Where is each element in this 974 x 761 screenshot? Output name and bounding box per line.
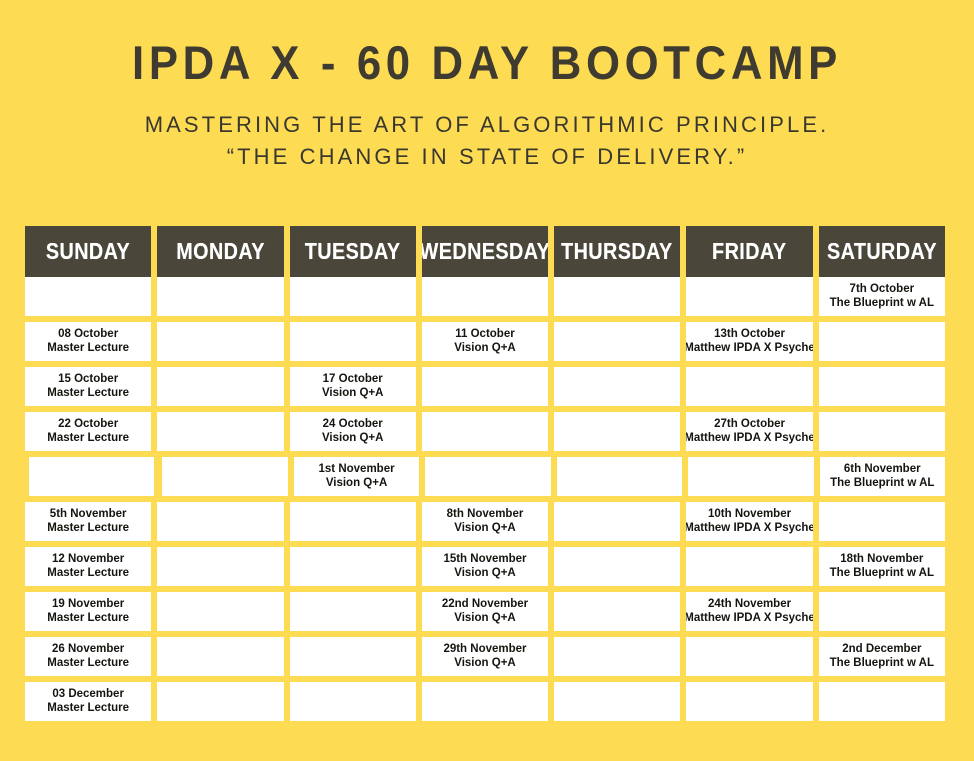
calendar-event-cell[interactable]: 26 NovemberMaster Lecture bbox=[25, 637, 151, 676]
calendar-event-cell[interactable]: 22 OctoberMaster Lecture bbox=[25, 412, 151, 451]
calendar-empty-cell[interactable] bbox=[25, 277, 151, 316]
calendar-empty-cell[interactable] bbox=[422, 277, 548, 316]
calendar-empty-cell[interactable] bbox=[686, 547, 812, 586]
event-title: Master Lecture bbox=[47, 612, 129, 626]
calendar-event-cell[interactable]: 7th OctoberThe Blueprint w AL bbox=[819, 277, 945, 316]
calendar-empty-cell[interactable] bbox=[157, 547, 283, 586]
event-title: The Blueprint w AL bbox=[830, 657, 934, 671]
event-title: The Blueprint w AL bbox=[830, 567, 934, 581]
calendar-body: 7th OctoberThe Blueprint w AL08 OctoberM… bbox=[25, 277, 945, 721]
calendar-week-row: 08 OctoberMaster Lecture11 OctoberVision… bbox=[25, 322, 945, 361]
day-header-label: SATURDAY bbox=[827, 238, 937, 265]
event-date: 1st November bbox=[319, 463, 395, 477]
event-title: Vision Q+A bbox=[454, 612, 515, 626]
event-title: Master Lecture bbox=[47, 387, 129, 401]
event-date: 8th November bbox=[447, 508, 524, 522]
title-block: IPDA X - 60 DAY BOOTCAMP MASTERING THE A… bbox=[0, 0, 974, 173]
event-date: 5th November bbox=[50, 508, 127, 522]
day-header-label: FRIDAY bbox=[712, 238, 786, 265]
calendar-event-cell[interactable]: 15 OctoberMaster Lecture bbox=[25, 367, 151, 406]
calendar-week-row: 26 NovemberMaster Lecture29th NovemberVi… bbox=[25, 637, 945, 676]
subtitle-line-1: MASTERING THE ART OF ALGORITHMIC PRINCIP… bbox=[0, 109, 974, 141]
event-date: 15 October bbox=[58, 373, 118, 387]
calendar-empty-cell[interactable] bbox=[554, 322, 680, 361]
event-title: Matthew IPDA X Psyche bbox=[686, 522, 812, 536]
event-title: Master Lecture bbox=[47, 432, 129, 446]
calendar-event-cell[interactable]: 8th NovemberVision Q+A bbox=[422, 502, 548, 541]
event-date: 03 December bbox=[52, 688, 124, 702]
event-title: Matthew IPDA X Psyche bbox=[686, 432, 812, 446]
calendar-empty-cell[interactable] bbox=[157, 592, 283, 631]
subtitle-block: MASTERING THE ART OF ALGORITHMIC PRINCIP… bbox=[0, 109, 974, 173]
event-title: Master Lecture bbox=[47, 342, 129, 356]
day-header-label: THURSDAY bbox=[562, 238, 674, 265]
calendar-week-row: 03 DecemberMaster Lecture bbox=[25, 682, 945, 721]
event-date: 17 October bbox=[323, 373, 383, 387]
calendar-empty-cell[interactable] bbox=[554, 592, 680, 631]
day-header-friday: FRIDAY bbox=[686, 226, 812, 277]
event-title: Vision Q+A bbox=[326, 477, 387, 491]
day-header-label: SUNDAY bbox=[46, 238, 130, 265]
event-date: 19 November bbox=[52, 598, 124, 612]
event-title: The Blueprint w AL bbox=[830, 477, 934, 491]
day-header-label: WEDNESDAY bbox=[422, 238, 548, 265]
event-date: 6th November bbox=[844, 463, 921, 477]
calendar-empty-cell[interactable] bbox=[554, 412, 680, 451]
event-date: 12 November bbox=[52, 553, 124, 567]
calendar-event-cell[interactable]: 13th OctoberMatthew IPDA X Psyche bbox=[686, 322, 812, 361]
event-title: Vision Q+A bbox=[454, 567, 515, 581]
calendar-empty-cell[interactable] bbox=[157, 277, 283, 316]
calendar-event-cell[interactable]: 17 OctoberVision Q+A bbox=[290, 367, 416, 406]
event-date: 24 October bbox=[323, 418, 383, 432]
event-date: 11 October bbox=[455, 328, 514, 342]
calendar-empty-cell[interactable] bbox=[819, 682, 945, 721]
page-title: IPDA X - 60 DAY BOOTCAMP bbox=[34, 38, 940, 87]
calendar-week-row: 12 NovemberMaster Lecture15th NovemberVi… bbox=[25, 547, 945, 586]
event-title: Master Lecture bbox=[47, 522, 129, 536]
calendar-empty-cell[interactable] bbox=[686, 637, 812, 676]
calendar-empty-cell[interactable] bbox=[29, 457, 154, 496]
calendar-empty-cell[interactable] bbox=[290, 547, 416, 586]
calendar-empty-cell[interactable] bbox=[157, 322, 283, 361]
event-title: The Blueprint w AL bbox=[830, 297, 934, 311]
calendar-week-row: 5th NovemberMaster Lecture8th NovemberVi… bbox=[25, 502, 945, 541]
calendar-empty-cell[interactable] bbox=[157, 502, 283, 541]
calendar-empty-cell[interactable] bbox=[686, 367, 812, 406]
event-date: 2nd December bbox=[842, 643, 921, 657]
calendar-empty-cell[interactable] bbox=[422, 412, 548, 451]
day-header-label: MONDAY bbox=[176, 238, 265, 265]
calendar-header-row: SUNDAYMONDAYTUESDAYWEDNESDAYTHURSDAYFRID… bbox=[25, 226, 945, 277]
calendar-empty-cell[interactable] bbox=[819, 322, 945, 361]
calendar-empty-cell[interactable] bbox=[554, 502, 680, 541]
calendar-week-row: 1st NovemberVision Q+A6th NovemberThe Bl… bbox=[25, 457, 945, 496]
event-title: Matthew IPDA X Psyche bbox=[686, 612, 812, 626]
day-header-wednesday: WEDNESDAY bbox=[422, 226, 548, 277]
calendar-event-cell[interactable]: 03 DecemberMaster Lecture bbox=[25, 682, 151, 721]
event-date: 08 October bbox=[58, 328, 118, 342]
calendar-empty-cell[interactable] bbox=[422, 682, 548, 721]
calendar-event-cell[interactable]: 11 OctoberVision Q+A bbox=[422, 322, 548, 361]
calendar-event-cell[interactable]: 22nd NovemberVision Q+A bbox=[422, 592, 548, 631]
event-title: Master Lecture bbox=[47, 657, 129, 671]
calendar-empty-cell[interactable] bbox=[819, 502, 945, 541]
event-date: 24th November bbox=[708, 598, 791, 612]
event-title: Vision Q+A bbox=[322, 387, 383, 401]
day-header-label: TUESDAY bbox=[305, 238, 401, 265]
event-title: Master Lecture bbox=[47, 702, 129, 716]
calendar-empty-cell[interactable] bbox=[819, 592, 945, 631]
calendar-empty-cell[interactable] bbox=[290, 682, 416, 721]
event-title: Master Lecture bbox=[47, 567, 129, 581]
event-date: 22 October bbox=[58, 418, 118, 432]
calendar-week-row: 7th OctoberThe Blueprint w AL bbox=[25, 277, 945, 316]
calendar-empty-cell[interactable] bbox=[819, 367, 945, 406]
event-date: 10th November bbox=[708, 508, 791, 522]
calendar-empty-cell[interactable] bbox=[290, 502, 416, 541]
event-date: 22nd November bbox=[442, 598, 528, 612]
calendar-empty-cell[interactable] bbox=[554, 637, 680, 676]
calendar-empty-cell[interactable] bbox=[290, 637, 416, 676]
event-title: Vision Q+A bbox=[454, 657, 515, 671]
calendar-empty-cell[interactable] bbox=[290, 322, 416, 361]
calendar-event-cell[interactable]: 19 NovemberMaster Lecture bbox=[25, 592, 151, 631]
calendar-empty-cell[interactable] bbox=[422, 367, 548, 406]
event-date: 27th October bbox=[714, 418, 785, 432]
day-header-tuesday: TUESDAY bbox=[290, 226, 416, 277]
day-header-saturday: SATURDAY bbox=[819, 226, 945, 277]
calendar-empty-cell[interactable] bbox=[819, 412, 945, 451]
calendar-empty-cell[interactable] bbox=[425, 457, 550, 496]
event-title: Vision Q+A bbox=[454, 342, 515, 356]
day-header-sunday: SUNDAY bbox=[25, 226, 151, 277]
calendar-grid: SUNDAYMONDAYTUESDAYWEDNESDAYTHURSDAYFRID… bbox=[25, 226, 945, 721]
calendar-event-cell[interactable]: 12 NovemberMaster Lecture bbox=[25, 547, 151, 586]
calendar-empty-cell[interactable] bbox=[554, 682, 680, 721]
calendar-event-cell[interactable]: 29th NovemberVision Q+A bbox=[422, 637, 548, 676]
day-header-monday: MONDAY bbox=[157, 226, 283, 277]
calendar-week-row: 15 OctoberMaster Lecture17 OctoberVision… bbox=[25, 367, 945, 406]
day-header-thursday: THURSDAY bbox=[554, 226, 680, 277]
calendar-empty-cell[interactable] bbox=[157, 637, 283, 676]
calendar-empty-cell[interactable] bbox=[686, 277, 812, 316]
calendar-empty-cell[interactable] bbox=[157, 367, 283, 406]
calendar-event-cell[interactable]: 18th NovemberThe Blueprint w AL bbox=[819, 547, 945, 586]
event-date: 29th November bbox=[443, 643, 526, 657]
calendar-event-cell[interactable]: 27th OctoberMatthew IPDA X Psyche bbox=[686, 412, 812, 451]
calendar-empty-cell[interactable] bbox=[157, 412, 283, 451]
event-date: 26 November bbox=[52, 643, 124, 657]
calendar-event-cell[interactable]: 10th NovemberMatthew IPDA X Psyche bbox=[686, 502, 812, 541]
calendar-event-cell[interactable]: 6th NovemberThe Blueprint w AL bbox=[820, 457, 945, 496]
calendar-week-row: 19 NovemberMaster Lecture22nd NovemberVi… bbox=[25, 592, 945, 631]
calendar-empty-cell[interactable] bbox=[157, 682, 283, 721]
calendar-empty-cell[interactable] bbox=[688, 457, 813, 496]
calendar-event-cell[interactable]: 24th NovemberMatthew IPDA X Psyche bbox=[686, 592, 812, 631]
event-date: 18th November bbox=[840, 553, 923, 567]
calendar-empty-cell[interactable] bbox=[557, 457, 682, 496]
calendar-empty-cell[interactable] bbox=[554, 367, 680, 406]
calendar-empty-cell[interactable] bbox=[686, 682, 812, 721]
calendar-empty-cell[interactable] bbox=[554, 277, 680, 316]
calendar-event-cell[interactable]: 24 OctoberVision Q+A bbox=[290, 412, 416, 451]
event-title: Vision Q+A bbox=[322, 432, 383, 446]
calendar-event-cell[interactable]: 2nd DecemberThe Blueprint w AL bbox=[819, 637, 945, 676]
calendar-event-cell[interactable]: 5th NovemberMaster Lecture bbox=[25, 502, 151, 541]
subtitle-line-2: “THE CHANGE IN STATE OF DELIVERY.” bbox=[0, 141, 974, 173]
calendar-event-cell[interactable]: 1st NovemberVision Q+A bbox=[294, 457, 419, 496]
event-date: 7th October bbox=[850, 283, 915, 297]
calendar-week-row: 22 OctoberMaster Lecture24 OctoberVision… bbox=[25, 412, 945, 451]
event-title: Matthew IPDA X Psyche bbox=[686, 342, 812, 356]
event-date: 15th November bbox=[443, 553, 526, 567]
calendar-empty-cell[interactable] bbox=[162, 457, 287, 496]
calendar-event-cell[interactable]: 15th NovemberVision Q+A bbox=[422, 547, 548, 586]
event-date: 13th October bbox=[714, 328, 785, 342]
event-title: Vision Q+A bbox=[454, 522, 515, 536]
bootcamp-schedule-page: IPDA X - 60 DAY BOOTCAMP MASTERING THE A… bbox=[0, 0, 974, 761]
calendar-event-cell[interactable]: 08 OctoberMaster Lecture bbox=[25, 322, 151, 361]
calendar-empty-cell[interactable] bbox=[554, 547, 680, 586]
calendar-empty-cell[interactable] bbox=[290, 592, 416, 631]
calendar-empty-cell[interactable] bbox=[290, 277, 416, 316]
